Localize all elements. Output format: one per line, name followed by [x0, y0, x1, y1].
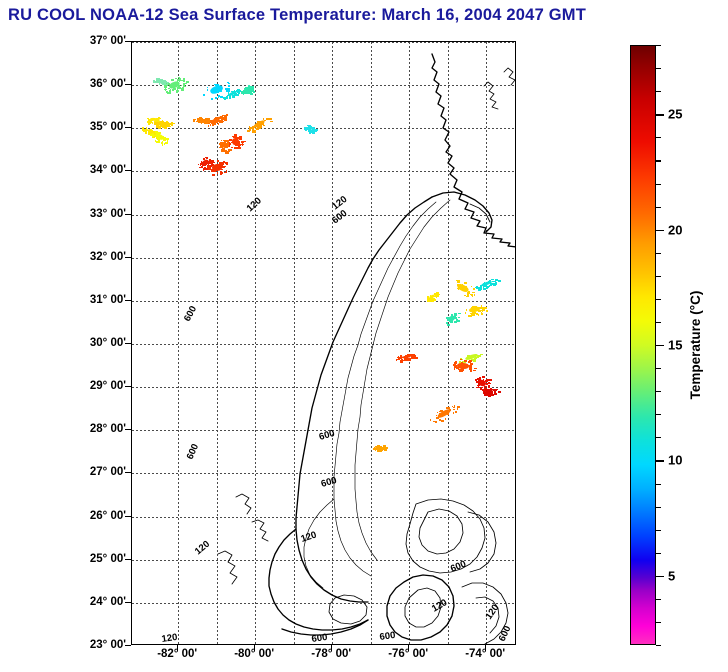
bathy-label-600a: 600 — [330, 208, 349, 226]
bathy-label-600b: 600 — [182, 304, 199, 323]
lat-tick-mark — [125, 645, 131, 646]
colorbar-tick-mark-20 — [656, 230, 664, 231]
colorbar-minor-tick — [656, 368, 661, 369]
lat-tick-label-26: 26° 00' — [72, 510, 126, 522]
colorbar-tick-label-10: 10 — [668, 453, 682, 468]
lat-tick-mark — [125, 300, 131, 301]
lat-tick-mark — [125, 170, 131, 171]
colorbar-minor-tick — [656, 160, 661, 161]
bathy-label-120g: 120 — [430, 597, 449, 614]
page-title: RU COOL NOAA-12 Sea Surface Temperature:… — [8, 6, 586, 25]
lat-tick-mark — [125, 429, 131, 430]
sst-map-plot[interactable]: 120 600 120 600 600 120 120 600 600 120 … — [131, 41, 516, 645]
lon-tick-mark — [485, 645, 486, 651]
colorbar-minor-tick — [656, 253, 661, 254]
map-canvas: 120 600 120 600 600 120 120 600 600 120 … — [132, 42, 515, 644]
colorbar-tick-mark-25 — [656, 114, 664, 115]
lat-tick-label-36: 36° 00' — [72, 78, 126, 90]
colorbar-tick-label-25: 25 — [668, 107, 682, 122]
bathy-label-600d: 600 — [318, 428, 336, 443]
lon-tick-mark — [177, 645, 178, 651]
lat-tick-mark — [125, 386, 131, 387]
lat-tick-mark — [125, 257, 131, 258]
colorbar-minor-tick — [656, 414, 661, 415]
lat-tick-mark — [125, 127, 131, 128]
colorbar-minor-tick — [656, 437, 661, 438]
colorbar-tick-label-15: 15 — [668, 338, 682, 353]
colorbar-minor-tick — [656, 68, 661, 69]
colorbar-minor-tick — [656, 45, 661, 46]
colorbar-minor-tick — [656, 276, 661, 277]
bathy-label-600i: 600 — [497, 624, 514, 643]
lat-tick-mark — [125, 214, 131, 215]
colorbar-minor-tick — [656, 645, 661, 646]
colorbar-minor-tick — [656, 530, 661, 531]
lat-tick-label-27: 27° 00' — [72, 466, 126, 478]
bathy-label-120f: 120 — [161, 632, 178, 645]
colorbar-minor-tick — [656, 599, 661, 600]
colorbar-tick-mark-10 — [656, 460, 664, 461]
lat-tick-label-33: 33° 00' — [72, 208, 126, 220]
lat-tick-label-29: 29° 00' — [72, 380, 126, 392]
colorbar-title: Temperature (°C) — [688, 291, 703, 400]
lat-tick-label-23: 23° 00' — [72, 639, 126, 651]
bathy-label-600f: 600 — [311, 632, 328, 645]
colorbar-tick-mark-15 — [656, 345, 664, 346]
bathy-label-120c: 120 — [193, 539, 212, 558]
colorbar-minor-tick — [656, 507, 661, 508]
lat-tick-label-31: 31° 00' — [72, 294, 126, 306]
colorbar-minor-tick — [656, 91, 661, 92]
colorbar-minor-tick — [656, 322, 661, 323]
lat-tick-mark — [125, 84, 131, 85]
lon-tick-mark — [331, 645, 332, 651]
lat-tick-label-24: 24° 00' — [72, 596, 126, 608]
colorbar-tick-label-20: 20 — [668, 222, 682, 237]
bathy-label-120e: 120 — [300, 529, 318, 544]
lon-tick-mark — [254, 645, 255, 651]
bathy-label-600e: 600 — [320, 475, 338, 490]
lon-tick-mark — [408, 645, 409, 651]
colorbar-tick-label-5: 5 — [668, 568, 675, 583]
lat-tick-mark — [125, 472, 131, 473]
lat-tick-mark — [125, 602, 131, 603]
colorbar-minor-tick — [656, 622, 661, 623]
lat-tick-label-35: 35° 00' — [72, 121, 126, 133]
colorbar-minor-tick — [656, 484, 661, 485]
lat-tick-label-28: 28° 00' — [72, 423, 126, 435]
lat-tick-mark — [125, 41, 131, 42]
colorbar-minor-tick — [656, 299, 661, 300]
lat-tick-label-30: 30° 00' — [72, 337, 126, 349]
lat-tick-label-37: 37° 00' — [72, 35, 126, 47]
colorbar-minor-tick — [656, 207, 661, 208]
colorbar-minor-tick — [656, 184, 661, 185]
bathy-label-120b: 120 — [245, 195, 264, 214]
lat-tick-label-34: 34° 00' — [72, 164, 126, 176]
temperature-colorbar[interactable] — [630, 45, 656, 645]
colorbar-tick-mark-5 — [656, 576, 664, 577]
lat-tick-mark — [125, 559, 131, 560]
colorbar-minor-tick — [656, 391, 661, 392]
lat-tick-mark — [125, 516, 131, 517]
bathy-label-600h: 600 — [449, 559, 468, 575]
bathy-label-600c: 600 — [185, 442, 201, 461]
coastline-overlay: 120 600 120 600 600 120 120 600 600 120 … — [132, 42, 516, 645]
lat-tick-label-32: 32° 00' — [72, 251, 126, 263]
lat-tick-label-25: 25° 00' — [72, 553, 126, 565]
lat-tick-mark — [125, 343, 131, 344]
colorbar-minor-tick — [656, 137, 661, 138]
colorbar-minor-tick — [656, 553, 661, 554]
bathy-label-600g: 600 — [379, 630, 396, 643]
